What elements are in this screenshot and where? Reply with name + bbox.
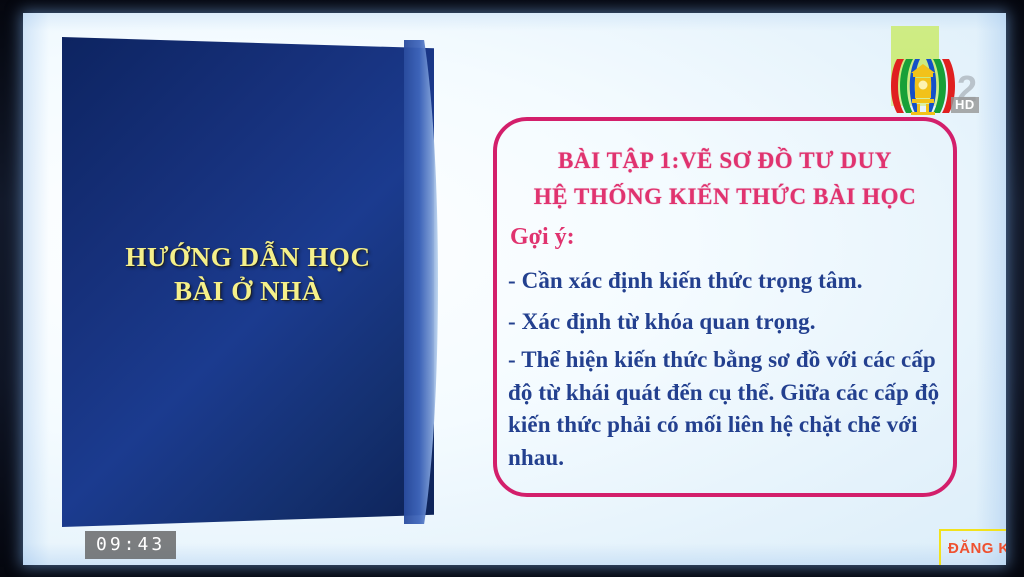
hint-label: Gợi ý: [510, 224, 575, 251]
tv-broadcast-frame: HƯỚNG DẪN HỌC BÀI Ở NHÀ BÀI TẬP 1:VẼ SƠ … [0, 0, 1024, 577]
panel-title-line-2: BÀI Ở NHÀ [62, 275, 434, 309]
exercise-title-line-2: HỆ THỐNG KIẾN THỨC BÀI HỌC [503, 179, 947, 215]
subscribe-button-label: ĐĂNG KÝ [948, 540, 1006, 557]
hint-bullet-2: - Xác định từ khóa quan trọng. [508, 306, 950, 339]
presentation-slide: HƯỚNG DẪN HỌC BÀI Ở NHÀ BÀI TẬP 1:VẼ SƠ … [23, 13, 1006, 565]
hd-badge: HD [951, 97, 979, 113]
broadcast-timestamp: 09:43 [85, 531, 176, 559]
exercise-title: BÀI TẬP 1:VẼ SƠ ĐỒ TƯ DUY HỆ THỐNG KIẾN … [503, 143, 947, 216]
subscribe-button[interactable]: ĐĂNG KÝ [939, 529, 1006, 565]
exercise-title-line-1: BÀI TẬP 1:VẼ SƠ ĐỒ TƯ DUY [503, 143, 947, 179]
hint-bullet-3: - Thể hiện kiến thức bằng sơ đồ với các … [508, 344, 952, 475]
panel-title: HƯỚNG DẪN HỌC BÀI Ở NHÀ [62, 241, 434, 309]
hint-bullet-1: - Cần xác định kiến thức trọng tâm. [508, 265, 950, 298]
panel-title-line-1: HƯỚNG DẪN HỌC [125, 242, 370, 272]
